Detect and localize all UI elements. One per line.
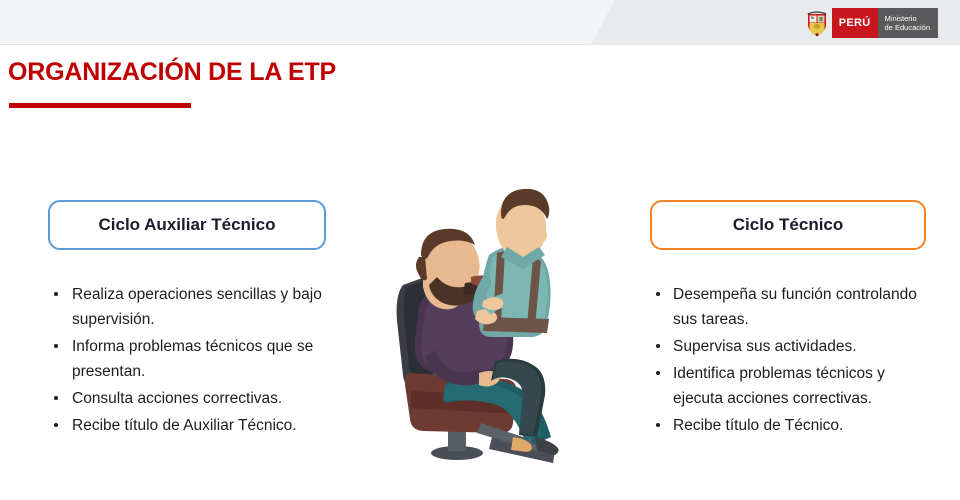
title-underline-bar bbox=[9, 103, 191, 108]
barber-shaving-client-illustration bbox=[385, 185, 585, 475]
heading-label: Ciclo Técnico bbox=[733, 215, 844, 235]
column-ciclo-auxiliar-tecnico: Ciclo Auxiliar Técnico Realiza operacion… bbox=[48, 200, 326, 440]
logo-ministry-line2: de Educación bbox=[885, 23, 930, 33]
list-item: Identifica problemas técnicos y ejecuta … bbox=[650, 361, 926, 411]
bullet-list-ciclo-auxiliar-tecnico: Realiza operaciones sencillas y bajo sup… bbox=[48, 282, 326, 438]
list-item: Realiza operaciones sencillas y bajo sup… bbox=[48, 282, 326, 332]
list-item: Recibe título de Técnico. bbox=[650, 413, 926, 438]
government-logo: PERÚ Ministerio de Educación bbox=[802, 8, 938, 38]
list-item: Consulta acciones correctivas. bbox=[48, 386, 326, 411]
page-title: ORGANIZACIÓN DE LA ETP bbox=[8, 58, 336, 87]
bullet-list-ciclo-tecnico: Desempeña su función controlando sus tar… bbox=[650, 282, 926, 438]
list-item: Supervisa sus actividades. bbox=[650, 334, 926, 359]
heading-label: Ciclo Auxiliar Técnico bbox=[99, 215, 276, 235]
logo-ministry-label: Ministerio de Educación bbox=[878, 8, 938, 38]
heading-box-ciclo-tecnico: Ciclo Técnico bbox=[650, 200, 926, 250]
peru-coat-of-arms-icon bbox=[802, 8, 832, 38]
heading-box-ciclo-auxiliar-tecnico: Ciclo Auxiliar Técnico bbox=[48, 200, 326, 250]
header-bottom-rule bbox=[0, 44, 960, 45]
logo-ministry-line1: Ministerio bbox=[885, 14, 930, 24]
list-item: Desempeña su función controlando sus tar… bbox=[650, 282, 926, 332]
column-ciclo-tecnico: Ciclo Técnico Desempeña su función contr… bbox=[650, 200, 926, 440]
logo-country-label: PERÚ bbox=[832, 8, 878, 38]
list-item: Informa problemas técnicos que se presen… bbox=[48, 334, 326, 384]
list-item: Recibe título de Auxiliar Técnico. bbox=[48, 413, 326, 438]
